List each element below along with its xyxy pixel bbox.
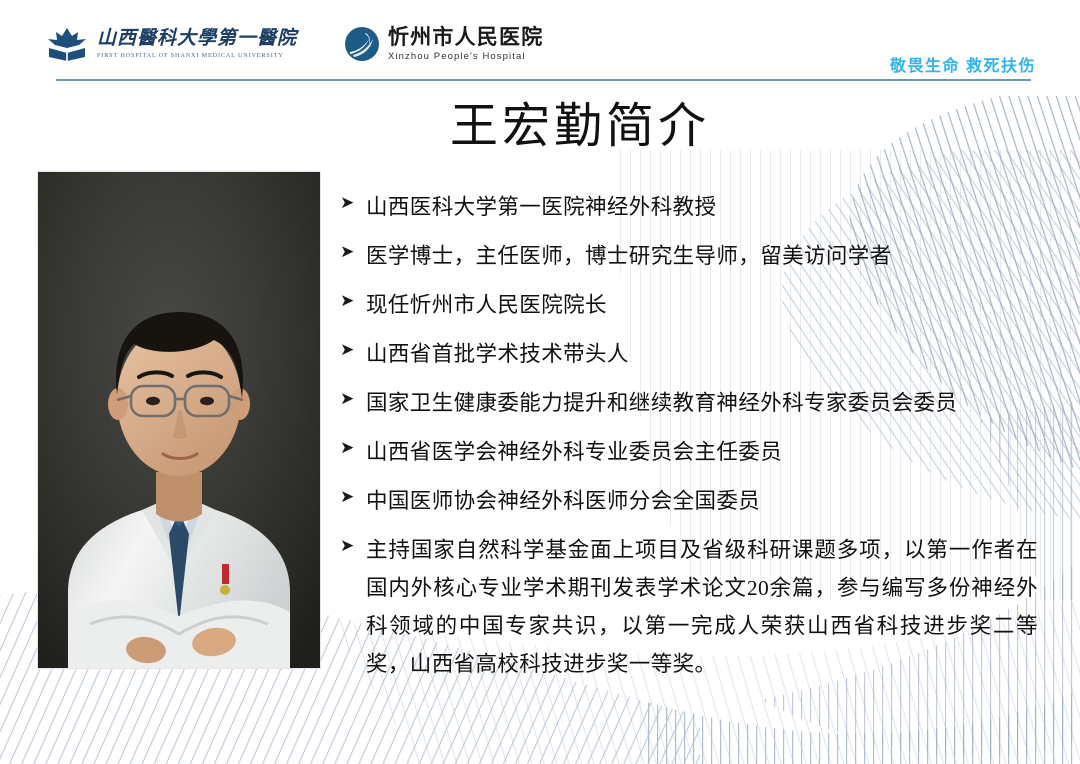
list-item-text: 国家卫生健康委能力提升和继续教育神经外科专家委员会委员 [366, 384, 957, 422]
logo-shanxi-text: 山西醫科大學第一醫院 FIRST HOSPITAL OF SHANXI MEDI… [97, 29, 297, 59]
arrow-bullet-icon: ➤ [340, 482, 366, 512]
circle-wave-icon [344, 26, 380, 62]
list-item: ➤ 中国医师协会神经外科医师分会全国委员 [340, 482, 1046, 520]
list-item: ➤ 山西医科大学第一医院神经外科教授 [340, 188, 1046, 226]
list-item-text: 山西省医学会神经外科专业委员会主任委员 [366, 433, 782, 471]
list-item: ➤ 医学博士，主任医师，博士研究生导师，留美访问学者 [340, 237, 1046, 275]
list-item-text: 现任忻州市人民医院院长 [366, 286, 607, 324]
arrow-bullet-icon: ➤ [340, 433, 366, 463]
arrow-bullet-icon: ➤ [340, 335, 366, 365]
list-item-text: 山西医科大学第一医院神经外科教授 [366, 188, 716, 226]
arrow-bullet-icon: ➤ [340, 384, 366, 414]
list-item: ➤ 现任忻州市人民医院院长 [340, 286, 1046, 324]
arrow-bullet-icon: ➤ [340, 188, 366, 218]
list-item: ➤ 国家卫生健康委能力提升和继续教育神经外科专家委员会委员 [340, 384, 1046, 422]
header-tagline: 敬畏生命 救死扶伤 [890, 52, 1036, 76]
arrow-bullet-icon: ➤ [340, 531, 366, 561]
slide-root: 山西醫科大學第一醫院 FIRST HOSPITAL OF SHANXI MEDI… [0, 0, 1080, 764]
open-book-lotus-icon [46, 26, 88, 62]
logo-shanxi-medical-university: 山西醫科大學第一醫院 FIRST HOSPITAL OF SHANXI MEDI… [46, 26, 297, 62]
logo-xinzhou-name-en: Xinzhou People's Hospital [388, 51, 543, 62]
logo-xinzhou-name-cn: 忻州市人民医院 [388, 26, 543, 49]
list-item-text: 医学博士，主任医师，博士研究生导师，留美访问学者 [366, 237, 892, 275]
list-item-text: 中国医师协会神经外科医师分会全国委员 [366, 482, 760, 520]
list-item: ➤ 山西省医学会神经外科专业委员会主任委员 [340, 433, 1046, 471]
arrow-bullet-icon: ➤ [340, 286, 366, 316]
list-item-text: 山西省首批学术技术带头人 [366, 335, 629, 373]
slide-header: 山西醫科大學第一醫院 FIRST HOSPITAL OF SHANXI MEDI… [0, 0, 1080, 84]
list-item-text: 主持国家自然科学基金面上项目及省级科研课题多项，以第一作者在国内外核心专业学术期… [366, 531, 1038, 683]
list-item: ➤ 主持国家自然科学基金面上项目及省级科研课题多项，以第一作者在国内外核心专业学… [340, 531, 1046, 683]
logo-xinzhou-peoples-hospital: 忻州市人民医院 Xinzhou People's Hospital [344, 26, 543, 62]
logo-shanxi-name-cn: 山西醫科大學第一醫院 [97, 29, 297, 49]
arrow-bullet-icon: ➤ [340, 237, 366, 267]
header-divider [56, 79, 1031, 81]
portrait-photo [38, 172, 320, 668]
list-item: ➤ 山西省首批学术技术带头人 [340, 335, 1046, 373]
logo-shanxi-name-en: FIRST HOSPITAL OF SHANXI MEDICAL UNIVERS… [97, 52, 297, 59]
logo-xinzhou-text: 忻州市人民医院 Xinzhou People's Hospital [388, 26, 543, 62]
bio-list: ➤ 山西医科大学第一医院神经外科教授 ➤ 医学博士，主任医师，博士研究生导师，留… [340, 188, 1046, 694]
page-title: 王宏勤简介 [0, 86, 1080, 156]
